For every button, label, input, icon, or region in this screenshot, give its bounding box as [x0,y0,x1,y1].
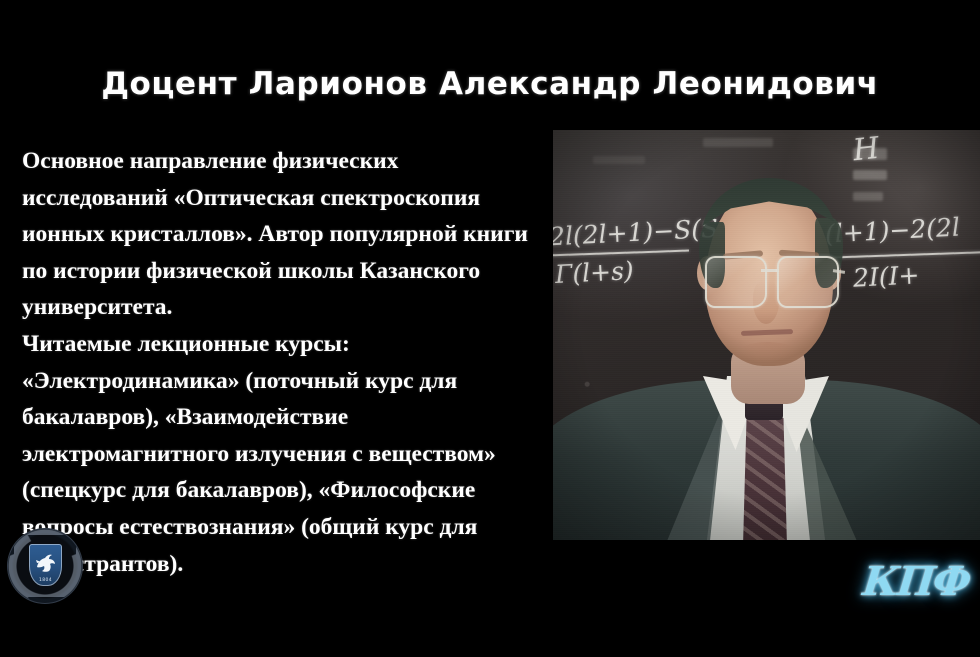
presentation-slide: Доцент Ларионов Александр Леонидович Осн… [0,0,980,657]
portrait-photo: H 2l(2l+1)−S(S Γ(l+s) (l+1)−2(2l 2I(I+ [553,130,980,540]
zilant-dragon-icon [33,550,58,576]
slide-body-text: Основное направление физических исследов… [22,143,528,582]
body-paragraph-1: Основное направление физических исследов… [22,143,528,326]
eyeglasses-icon [703,256,839,308]
necktie [743,418,787,540]
kfu-logo-year: 1804 [29,578,62,583]
chin [737,342,799,364]
body-paragraph-2: Читаемые лекционные курсы: «Электродинам… [22,326,528,582]
eyeglass-lens-right [777,256,839,308]
eyeglass-lens-left [705,256,767,308]
portrait-photo-inner: H 2l(2l+1)−S(S Γ(l+s) (l+1)−2(2l 2I(I+ [553,130,980,540]
page-title: Доцент Ларионов Александр Леонидович [0,66,980,102]
portrait-subject [553,130,980,540]
kpf-logo: КПФ [860,553,972,609]
kpf-logo-text: КПФ [860,558,971,605]
kfu-logo: 1804 [7,528,83,604]
kfu-logo-shield: 1804 [29,544,62,586]
